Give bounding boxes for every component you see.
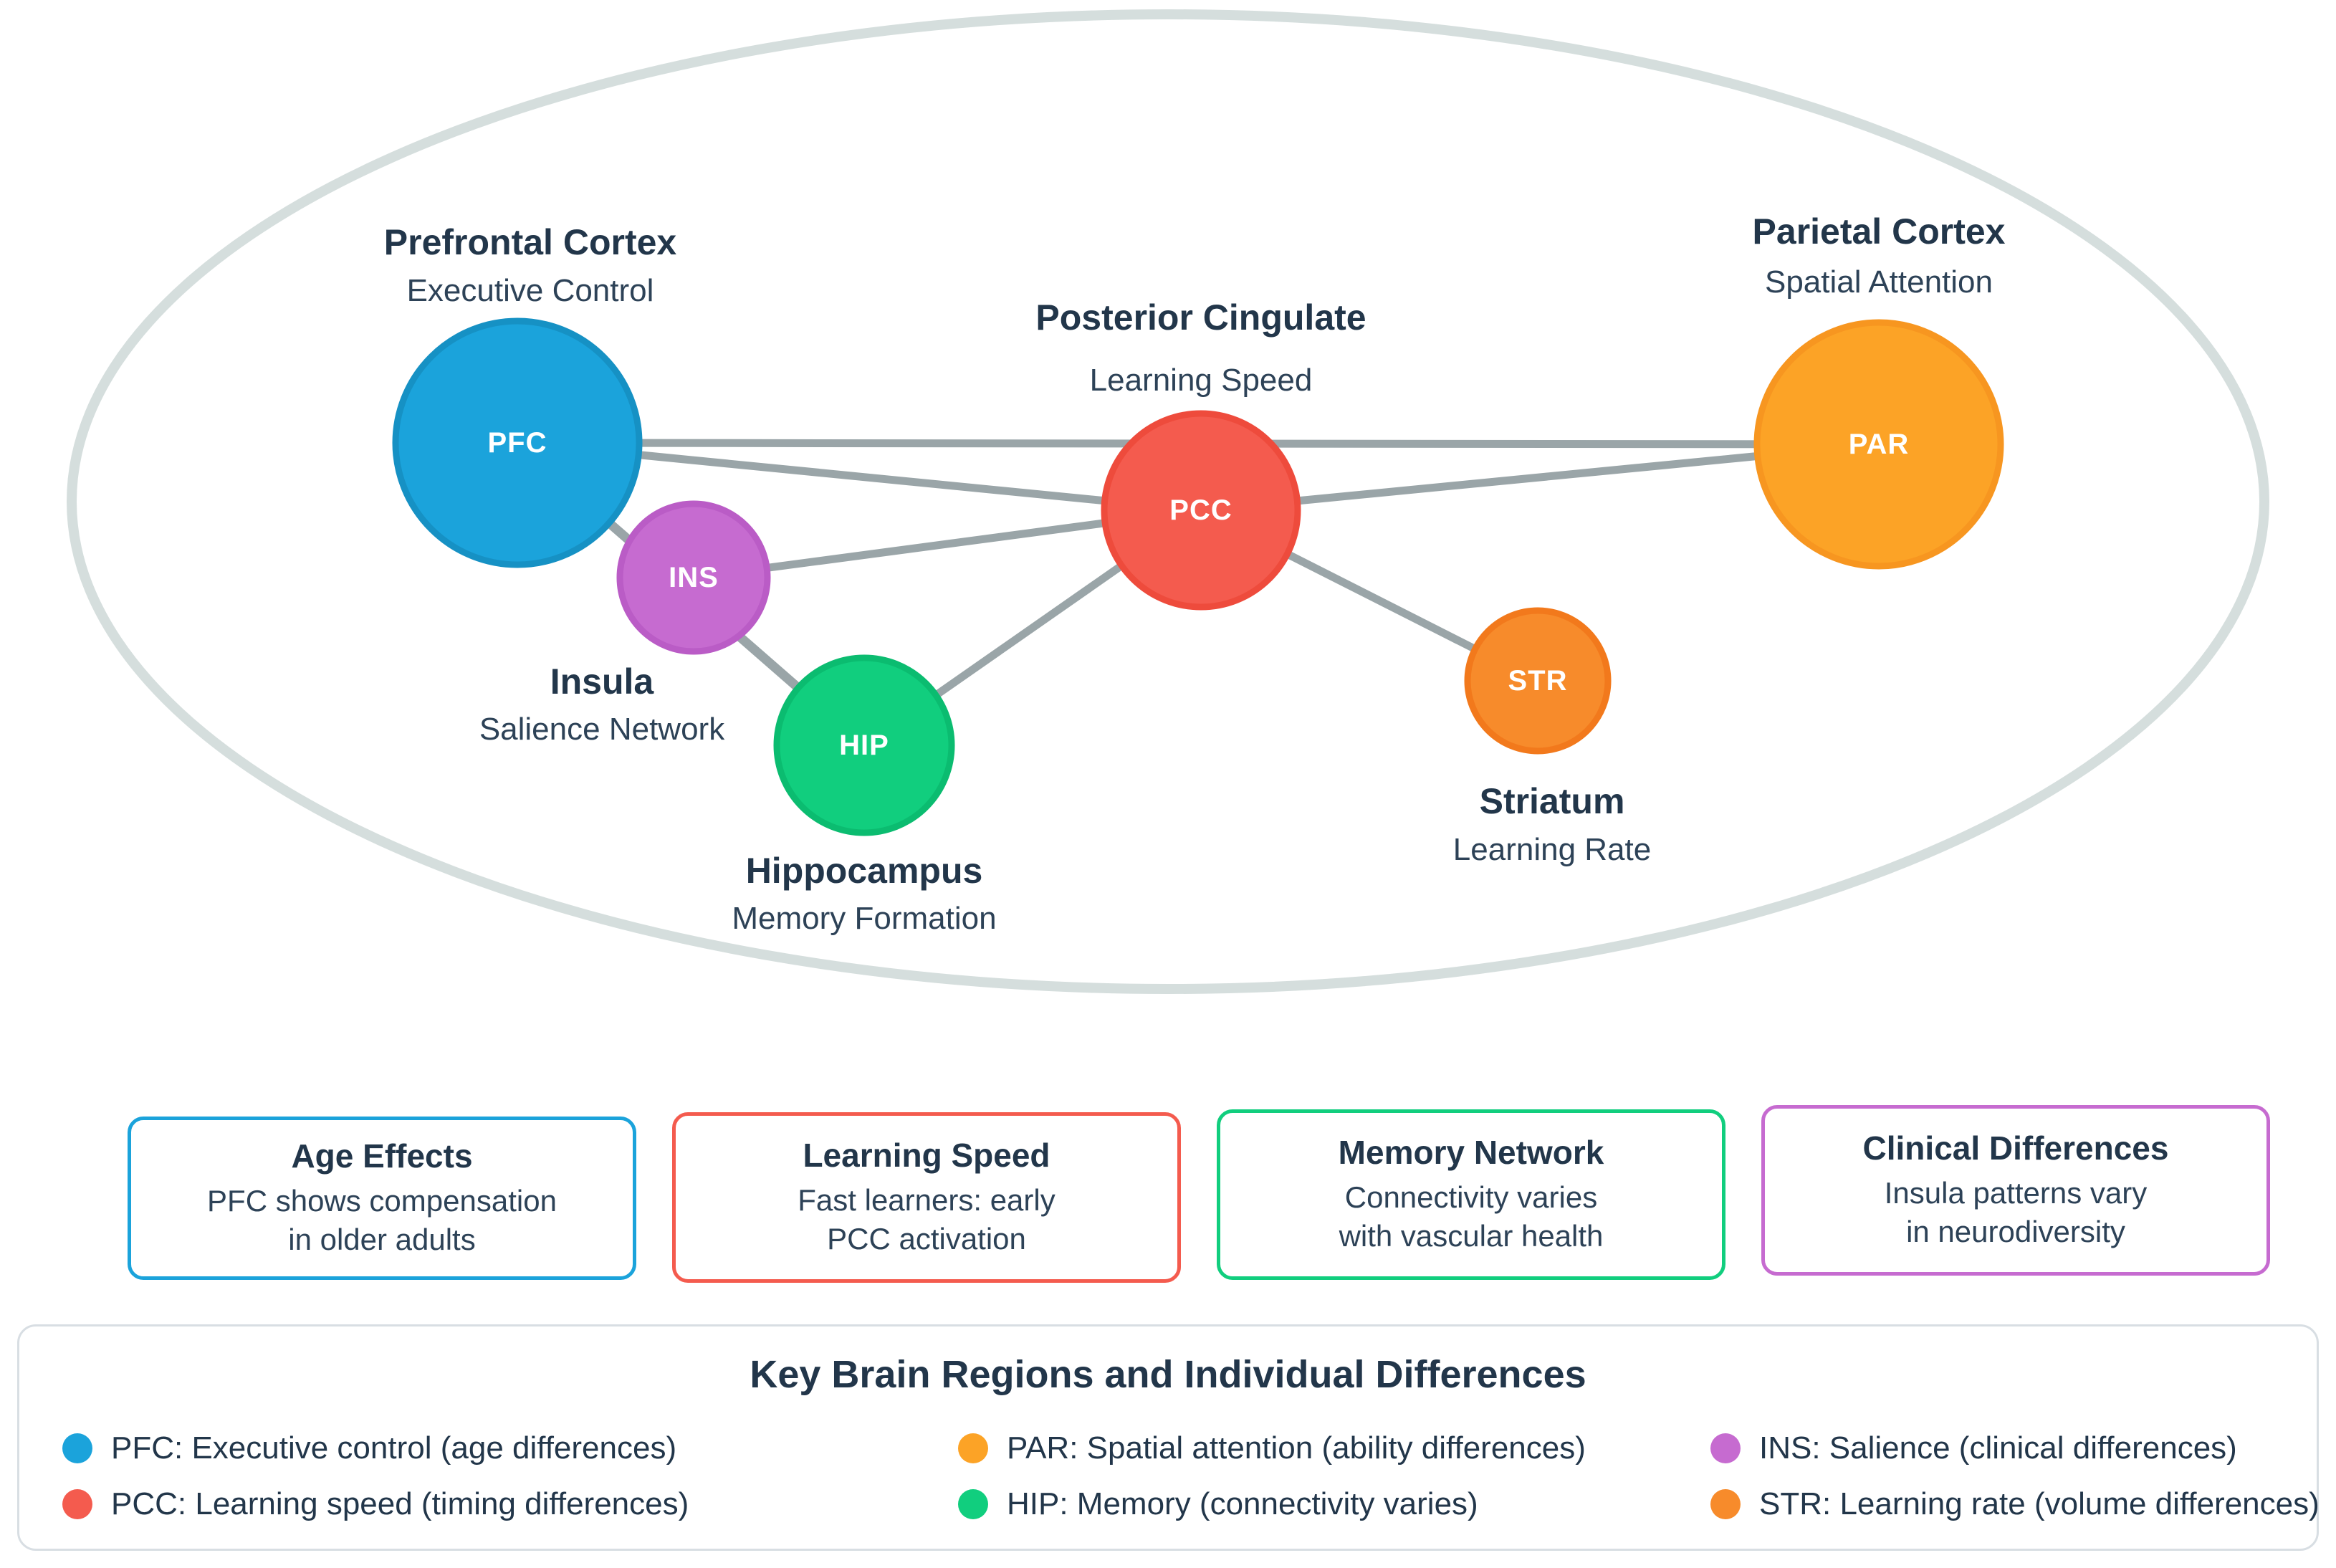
- node-title-hip: Hippocampus: [746, 851, 983, 891]
- node-subtitle-hip: Memory Formation: [732, 901, 996, 936]
- node-abbr-par: PAR: [1849, 429, 1909, 460]
- legend-label-pcc: PCC: Learning speed (timing differences): [111, 1486, 689, 1522]
- node-title-ins: Insula: [550, 661, 655, 702]
- annotation-box-age-effects[interactable]: Age EffectsPFC shows compensation in old…: [128, 1117, 636, 1280]
- legend-title: Key Brain Regions and Individual Differe…: [19, 1352, 2317, 1397]
- legend-label-hip: HIP: Memory (connectivity varies): [1007, 1486, 1478, 1522]
- node-subtitle-pcc: Learning Speed: [1090, 363, 1313, 398]
- annotation-title-age-effects: Age Effects: [291, 1137, 472, 1175]
- annotation-title-learning-speed: Learning Speed: [803, 1136, 1050, 1175]
- node-abbr-pfc: PFC: [488, 427, 547, 459]
- legend-dot-hip-icon: [958, 1489, 988, 1519]
- annotation-box-learning-speed[interactable]: Learning SpeedFast learners: early PCC a…: [672, 1112, 1181, 1283]
- node-abbr-str: STR: [1508, 665, 1568, 697]
- node-title-str: Striatum: [1480, 781, 1625, 821]
- region-nodes: PFCPCCPARINSHIPSTR: [396, 321, 2001, 833]
- legend-label-ins: INS: Salience (clinical differences): [1759, 1430, 2237, 1466]
- node-abbr-hip: HIP: [839, 730, 889, 761]
- legend-label-str: STR: Learning rate (volume differences): [1759, 1486, 2320, 1522]
- legend-entry-pfc: PFC: Executive control (age differences): [62, 1424, 958, 1473]
- node-abbr-ins: INS: [669, 562, 719, 593]
- legend-entry-str: STR: Learning rate (volume differences): [1710, 1480, 2336, 1529]
- legend-label-pfc: PFC: Executive control (age differences): [111, 1430, 676, 1466]
- node-subtitle-pfc: Executive Control: [407, 273, 654, 308]
- annotation-body-age-effects: PFC shows compensation in older adults: [207, 1182, 557, 1260]
- node-title-par: Parietal Cortex: [1753, 211, 2006, 252]
- network-svg: PFCPCCPARINSHIPSTR Prefrontal CortexExec…: [0, 0, 2336, 1075]
- legend-entry-hip: HIP: Memory (connectivity varies): [958, 1480, 1710, 1529]
- node-abbr-pcc: PCC: [1169, 494, 1232, 526]
- node-title-pfc: Prefrontal Cortex: [384, 222, 677, 262]
- legend-panel: Key Brain Regions and Individual Differe…: [17, 1324, 2319, 1551]
- legend-entry-par: PAR: Spatial attention (ability differen…: [958, 1424, 1710, 1473]
- legend-dot-str-icon: [1710, 1489, 1741, 1519]
- annotation-title-clinical-differences: Clinical Differences: [1863, 1129, 2169, 1167]
- annotation-box-memory-network[interactable]: Memory NetworkConnectivity varies with v…: [1217, 1109, 1725, 1280]
- legend-entry-pcc: PCC: Learning speed (timing differences): [62, 1480, 958, 1529]
- annotation-box-clinical-differences[interactable]: Clinical DifferencesInsula patterns vary…: [1761, 1105, 2270, 1276]
- node-subtitle-par: Spatial Attention: [1765, 264, 1993, 300]
- legend-dot-ins-icon: [1710, 1433, 1741, 1463]
- legend-label-par: PAR: Spatial attention (ability differen…: [1007, 1430, 1586, 1466]
- legend-entry-ins: INS: Salience (clinical differences): [1710, 1424, 2336, 1473]
- node-title-pcc: Posterior Cingulate: [1035, 297, 1366, 338]
- annotation-body-clinical-differences: Insula patterns vary in neurodiversity: [1885, 1174, 2148, 1252]
- node-subtitle-ins: Salience Network: [479, 712, 725, 747]
- node-subtitle-str: Learning Rate: [1453, 832, 1651, 867]
- annotation-body-learning-speed: Fast learners: early PCC activation: [798, 1181, 1055, 1259]
- brain-network-diagram: PFCPCCPARINSHIPSTR Prefrontal CortexExec…: [0, 0, 2336, 1075]
- annotation-title-memory-network: Memory Network: [1339, 1133, 1604, 1172]
- annotation-body-memory-network: Connectivity varies with vascular health: [1339, 1178, 1604, 1256]
- legend-dot-pfc-icon: [62, 1433, 92, 1463]
- legend-grid: PFC: Executive control (age differences)…: [19, 1424, 2317, 1529]
- legend-dot-par-icon: [958, 1433, 988, 1463]
- legend-dot-pcc-icon: [62, 1489, 92, 1519]
